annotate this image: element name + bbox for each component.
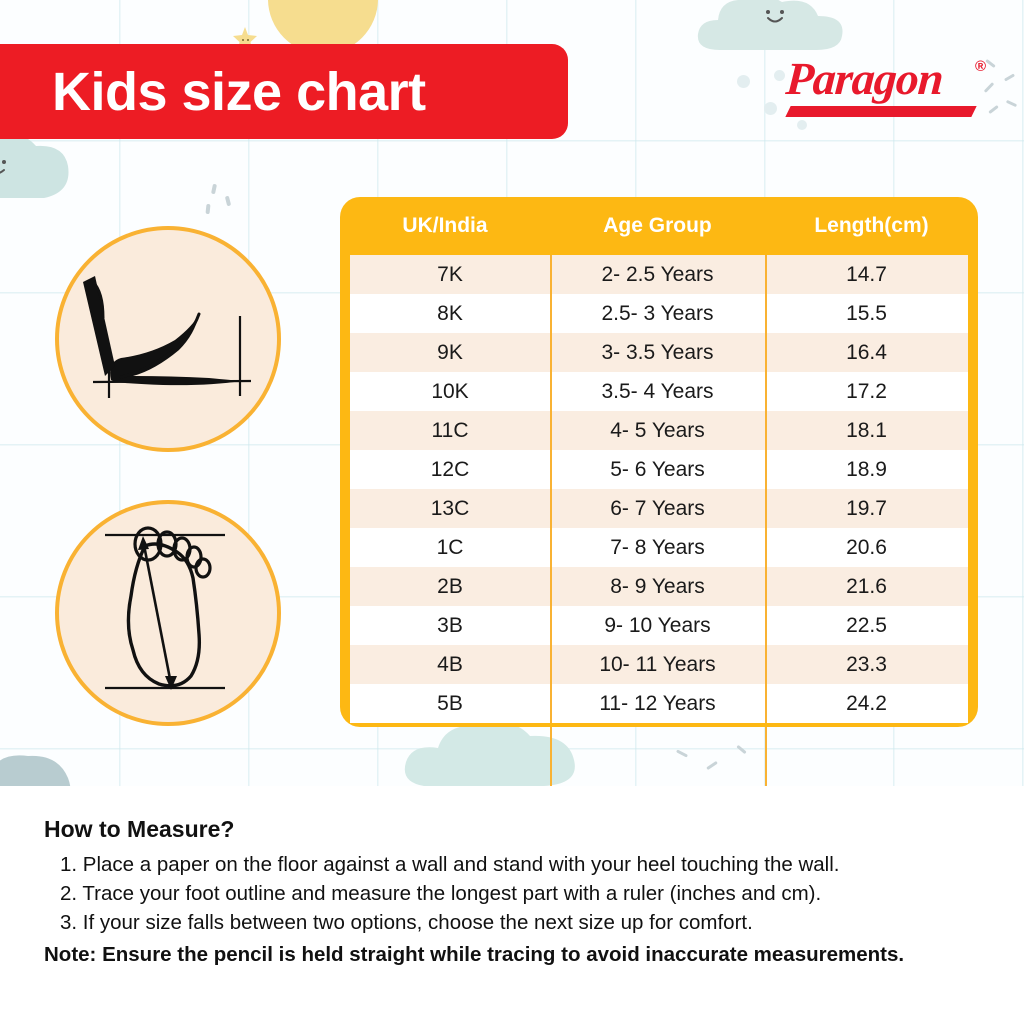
table-row: 13C 6- 7 Years 19.7: [350, 489, 968, 528]
page-title-banner: Kids size chart: [0, 44, 568, 139]
cell-uk-india: 2B: [350, 575, 550, 599]
cell-uk-india: 5B: [350, 692, 550, 716]
cell-age-group: 3- 3.5 Years: [550, 341, 765, 365]
column-header-uk-india: UK/India: [340, 214, 550, 238]
cell-age-group: 10- 11 Years: [550, 653, 765, 677]
cell-age-group: 5- 6 Years: [550, 458, 765, 482]
dot-decoration: [774, 70, 785, 81]
cell-age-group: 11- 12 Years: [550, 692, 765, 716]
column-header-length-cm: Length(cm): [765, 214, 978, 238]
table-row: 12C 5- 6 Years 18.9: [350, 450, 968, 489]
column-divider-extension-2: [765, 727, 767, 786]
cell-length-cm: 17.2: [765, 380, 968, 404]
table-row: 3B 9- 10 Years 22.5: [350, 606, 968, 645]
cell-uk-india: 12C: [350, 458, 550, 482]
cell-uk-india: 3B: [350, 614, 550, 638]
measurement-note: Note: Ensure the pencil is held straight…: [44, 943, 980, 967]
cloud-bottom-icon: [400, 718, 590, 786]
foot-side-with-pencil-icon: [59, 230, 277, 448]
cell-uk-india: 10K: [350, 380, 550, 404]
logo-wordmark: Paragon: [784, 56, 944, 102]
cell-uk-india: 13C: [350, 497, 550, 521]
cell-length-cm: 21.6: [765, 575, 968, 599]
dot-decoration: [737, 75, 750, 88]
cell-age-group: 8- 9 Years: [550, 575, 765, 599]
cell-length-cm: 16.4: [765, 341, 968, 365]
cell-uk-india: 4B: [350, 653, 550, 677]
cell-length-cm: 14.7: [765, 263, 968, 287]
cell-age-group: 6- 7 Years: [550, 497, 765, 521]
cell-length-cm: 19.7: [765, 497, 968, 521]
table-row: 2B 8- 9 Years 21.6: [350, 567, 968, 606]
column-divider-extension-1: [550, 727, 552, 786]
table-row: 7K 2- 2.5 Years 14.7: [350, 255, 968, 294]
how-to-measure-section: How to Measure? 1. Place a paper on the …: [0, 790, 1024, 1024]
table-row: 9K 3- 3.5 Years 16.4: [350, 333, 968, 372]
cloud-smiling-icon: [690, 0, 850, 56]
table-header-row: UK/India Age Group Length(cm): [340, 197, 978, 255]
dot-decoration: [764, 102, 777, 115]
instruction-step-1: 1. Place a paper on the floor against a …: [44, 850, 980, 879]
foot-sole-measure-icon: [59, 504, 277, 722]
registered-trademark-icon: ®: [975, 58, 986, 75]
instruction-step-3: 3. If your size falls between two option…: [44, 908, 980, 937]
page-title: Kids size chart: [0, 65, 426, 119]
cell-uk-india: 1C: [350, 536, 550, 560]
cell-age-group: 9- 10 Years: [550, 614, 765, 638]
cell-length-cm: 24.2: [765, 692, 968, 716]
cell-age-group: 7- 8 Years: [550, 536, 765, 560]
cell-length-cm: 20.6: [765, 536, 968, 560]
cell-length-cm: 18.1: [765, 419, 968, 443]
cell-age-group: 4- 5 Years: [550, 419, 765, 443]
cell-length-cm: 15.5: [765, 302, 968, 326]
how-to-measure-heading: How to Measure?: [44, 816, 980, 843]
table-body: 7K 2- 2.5 Years 14.7 8K 2.5- 3 Years 15.…: [350, 255, 968, 723]
cell-length-cm: 23.3: [765, 653, 968, 677]
table-row: 10K 3.5- 4 Years 17.2: [350, 372, 968, 411]
illustration-foot-sole-outline: [55, 500, 281, 726]
table-row: 8K 2.5- 3 Years 15.5: [350, 294, 968, 333]
cell-uk-india: 11C: [350, 419, 550, 443]
cell-uk-india: 9K: [350, 341, 550, 365]
size-chart-table: UK/India Age Group Length(cm) 7K 2- 2.5 …: [340, 197, 978, 727]
cell-length-cm: 22.5: [765, 614, 968, 638]
column-divider-1: [550, 255, 552, 723]
logo-underline-swoosh: [785, 106, 976, 117]
table-row: 11C 4- 5 Years 18.1: [350, 411, 968, 450]
paragon-logo: Paragon ®: [786, 56, 982, 124]
table-row: 1C 7- 8 Years 20.6: [350, 528, 968, 567]
cell-age-group: 3.5- 4 Years: [550, 380, 765, 404]
column-header-age-group: Age Group: [550, 214, 765, 238]
instruction-step-2: 2. Trace your foot outline and measure t…: [44, 879, 980, 908]
cloud-bottomleft-icon: [0, 752, 80, 786]
table-row: 4B 10- 11 Years 23.3: [350, 645, 968, 684]
illustration-foot-side-view: [55, 226, 281, 452]
cell-age-group: 2.5- 3 Years: [550, 302, 765, 326]
column-divider-2: [765, 255, 767, 723]
cell-uk-india: 7K: [350, 263, 550, 287]
cell-age-group: 2- 2.5 Years: [550, 263, 765, 287]
cell-uk-india: 8K: [350, 302, 550, 326]
cell-length-cm: 18.9: [765, 458, 968, 482]
table-row: 5B 11- 12 Years 24.2: [350, 684, 968, 723]
